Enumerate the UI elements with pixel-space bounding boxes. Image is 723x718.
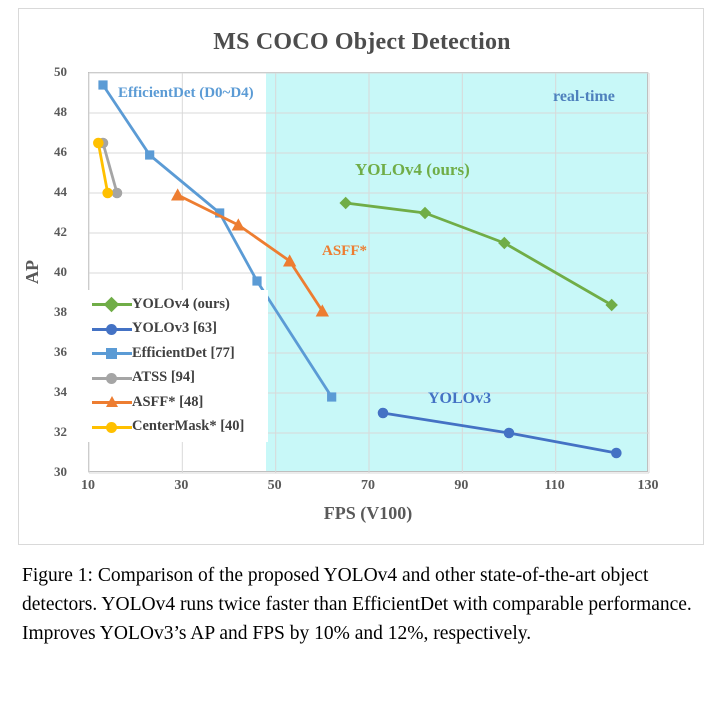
y-tick-label: 32 (27, 424, 67, 440)
legend-swatch-diamond-icon (92, 298, 132, 310)
y-tick-label: 50 (27, 64, 67, 80)
data-point (498, 237, 510, 249)
x-tick-label: 10 (81, 478, 95, 494)
data-point (102, 188, 113, 199)
data-point (252, 276, 261, 285)
legend-item-atss-94[interactable]: ATSS [94] (92, 366, 264, 391)
data-point (145, 150, 154, 159)
data-point (93, 138, 104, 149)
legend-label: YOLOv4 (ours) (132, 296, 230, 313)
data-point (419, 207, 431, 219)
data-point (605, 299, 617, 311)
x-tick-label: 130 (638, 478, 659, 494)
legend-item-asff-48[interactable]: ASFF* [48] (92, 390, 264, 415)
annotation-yolov4: YOLOv4 (ours) (355, 160, 470, 180)
legend-swatch-square-icon (92, 347, 132, 359)
y-tick-label: 36 (27, 344, 67, 360)
annotation-efficientdet: EfficientDet (D0~D4) (118, 85, 254, 102)
legend-item-yolov4-ours[interactable]: YOLOv4 (ours) (92, 292, 264, 317)
data-point (98, 80, 107, 89)
x-axis-label: FPS (V100) (88, 503, 648, 524)
data-point (339, 197, 351, 209)
y-tick-label: 30 (27, 464, 67, 480)
data-point (112, 188, 123, 199)
chart-legend: YOLOv4 (ours)YOLOv3 [63]EfficientDet [77… (88, 290, 268, 442)
legend-item-centermask-40[interactable]: CenterMask* [40] (92, 415, 264, 440)
annotation-real-time: real-time (553, 88, 615, 106)
legend-label: EfficientDet [77] (132, 345, 235, 362)
legend-label: ATSS [94] (132, 369, 195, 386)
data-point (504, 428, 515, 439)
x-tick-label: 70 (361, 478, 375, 494)
data-point (327, 392, 336, 401)
series-line (346, 203, 612, 305)
series-line (383, 413, 616, 453)
x-tick-label: 110 (545, 478, 565, 494)
data-point (378, 408, 389, 419)
legend-item-efficientdet-77[interactable]: EfficientDet [77] (92, 341, 264, 366)
legend-label: CenterMask* [40] (132, 418, 244, 435)
legend-label: YOLOv3 [63] (132, 320, 217, 337)
x-tick-label: 30 (174, 478, 188, 494)
y-tick-label: 38 (27, 304, 67, 320)
legend-label: ASFF* [48] (132, 394, 203, 411)
legend-swatch-circle-icon (92, 372, 132, 384)
x-tick-label: 50 (268, 478, 282, 494)
data-point (232, 218, 245, 230)
y-tick-label: 42 (27, 224, 67, 240)
y-tick-label: 44 (27, 184, 67, 200)
y-tick-label: 48 (27, 104, 67, 120)
legend-swatch-circle-icon (92, 323, 132, 335)
y-tick-label: 34 (27, 384, 67, 400)
figure-caption: Figure 1: Comparison of the proposed YOL… (22, 561, 702, 648)
data-point (171, 188, 184, 200)
y-tick-label: 40 (27, 264, 67, 280)
legend-swatch-triangle-icon (92, 396, 132, 408)
annotation-asff: ASFF* (322, 243, 367, 260)
legend-swatch-circle-icon (92, 421, 132, 433)
annotation-yolov3: YOLOv3 (428, 390, 491, 408)
legend-item-yolov3-63[interactable]: YOLOv3 [63] (92, 317, 264, 342)
y-tick-label: 46 (27, 144, 67, 160)
chart-title: MS COCO Object Detection (19, 29, 705, 56)
data-point (611, 448, 622, 459)
x-tick-label: 90 (454, 478, 468, 494)
